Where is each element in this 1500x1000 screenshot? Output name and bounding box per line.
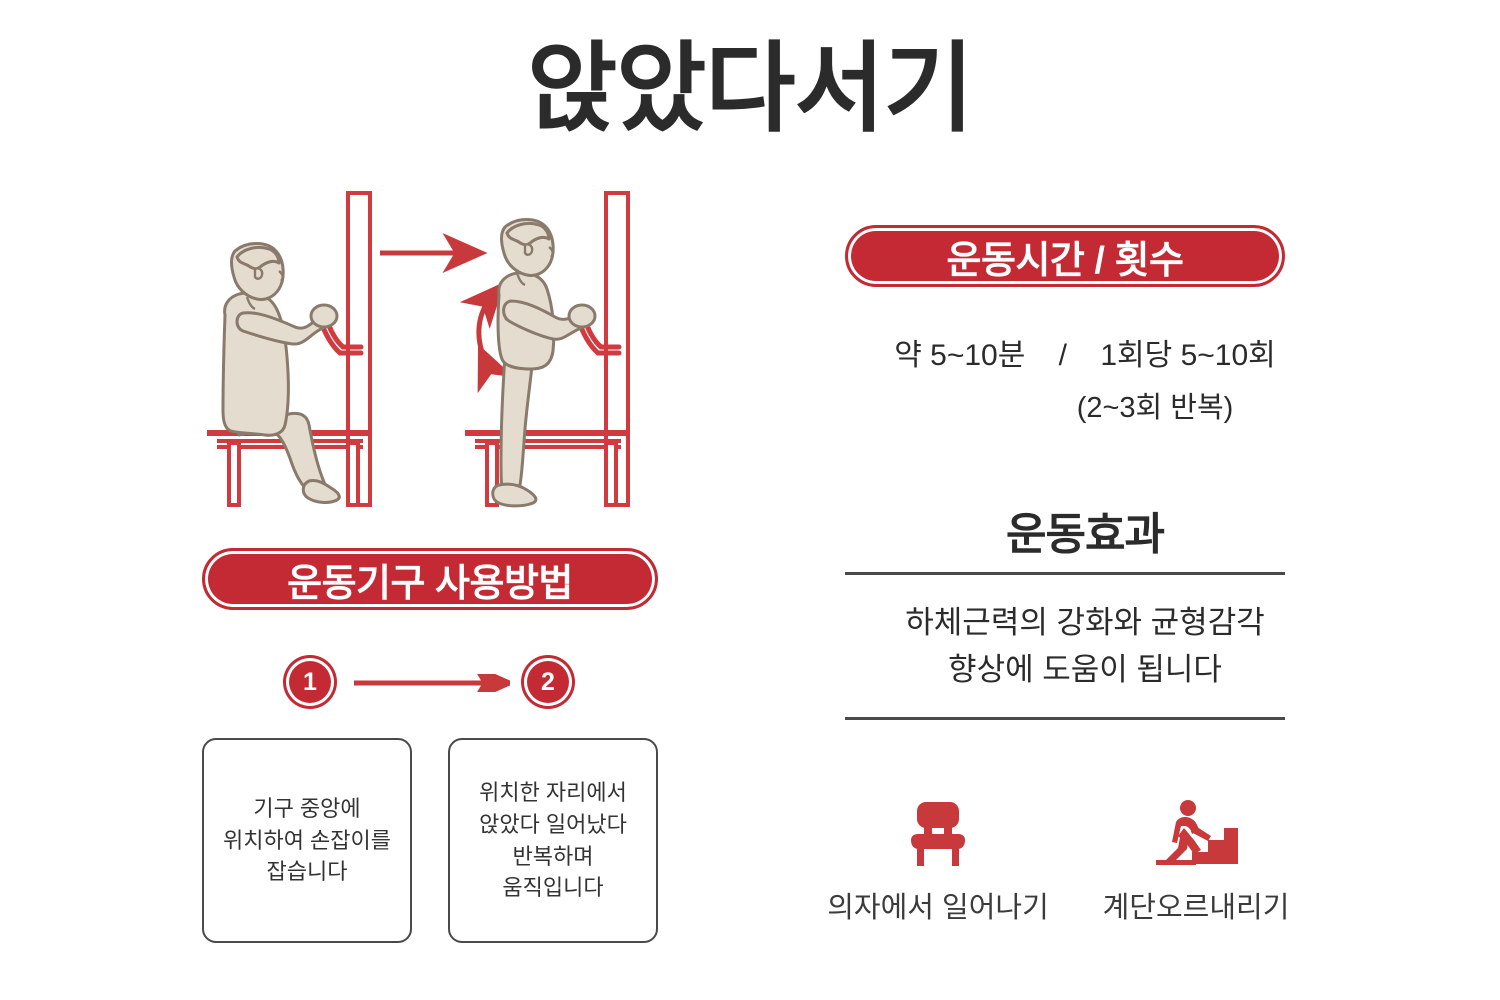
benefit-label-chair: 의자에서 일어나기 [827,884,1049,926]
stairs-climb-icon [1154,792,1238,870]
divider-bottom [845,717,1285,720]
exercise-time-values: 약 5~10분 / 1회당 5~10회 (2~3회 반복) [820,330,1350,426]
benefit-list: 의자에서 일어나기 [832,792,1302,926]
benefit-item-stairs: 계단오르내리기 [1091,792,1301,926]
step-description-1: 기구 중앙에 위치하여 손잡이를 잡습니다 [202,738,412,943]
exercise-time-duration: 약 5~10분 / 1회당 5~10회 [820,330,1350,374]
page-title: 앉았다서기 [0,34,1500,144]
left-column: 운동기구 사용방법 1 2 기구 중앙에 위치하여 손잡이를 잡습니다 위치한 … [0,180,760,980]
step-number-2: 2 [524,658,572,706]
usage-method-badge: 운동기구 사용방법 [202,548,658,610]
motion-arrow [479,295,493,360]
seated-scene [207,193,370,505]
step-sequence: 1 2 [202,658,658,718]
benefit-label-stairs: 계단오르내리기 [1103,884,1290,926]
exercise-time-badge: 운동시간 / 횟수 [845,225,1285,287]
effect-heading: 운동효과 [820,498,1350,562]
divider-top [845,572,1285,575]
step-number-1: 1 [286,658,334,706]
sit-to-stand-illustration [185,185,695,515]
step-description-2: 위치한 자리에서 앉았다 일어났다 반복하며 움직입니다 [448,738,658,943]
step-arrow-icon [352,674,510,692]
effect-description: 하체근력의 강화와 균형감각 향상에 도움이 됩니다 [815,600,1355,693]
benefit-item-chair: 의자에서 일어나기 [833,792,1043,926]
exercise-time-repeats: (2~3회 반복) [820,384,1350,426]
standing-scene [465,193,628,506]
right-column: 운동시간 / 횟수 약 5~10분 / 1회당 5~10회 (2~3회 반복) … [760,180,1500,980]
chair-icon [901,792,975,870]
infographic-page: 앉았다서기 [0,0,1500,1000]
